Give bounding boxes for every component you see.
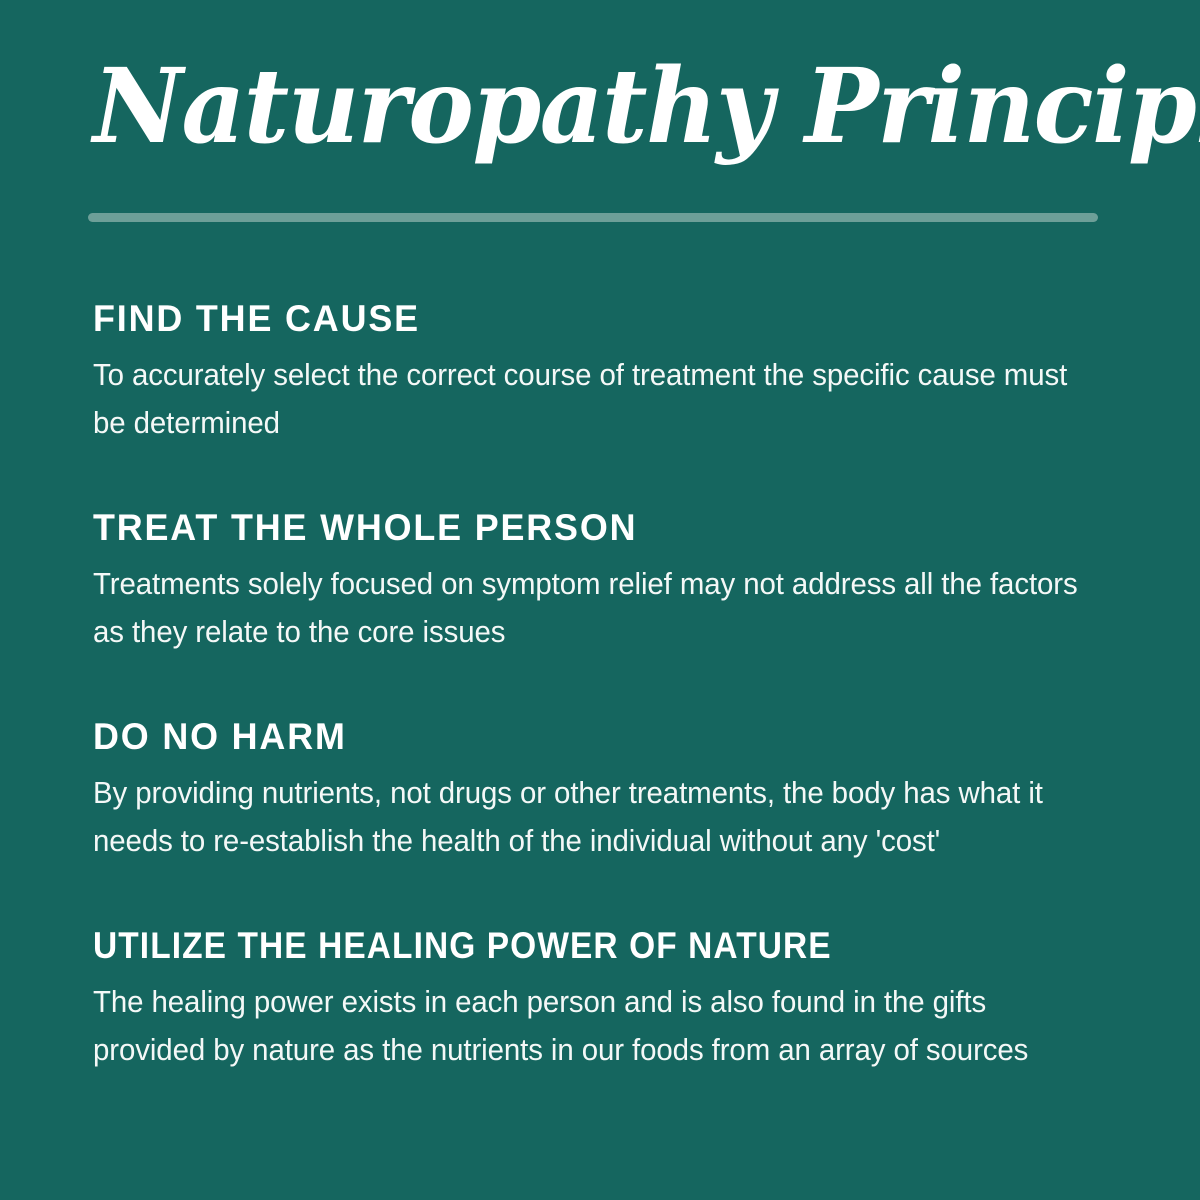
header-divider — [88, 213, 1098, 222]
principle-heading: UTILIZE THE HEALING POWER OF NATURE — [93, 927, 1007, 964]
principle-heading: FIND THE CAUSE — [93, 300, 1073, 337]
principles-list: FIND THE CAUSE To accurately select the … — [93, 300, 1103, 1074]
poster-canvas: Naturopathy Principles FIND THE CAUSE To… — [0, 0, 1200, 1200]
principle-item-treat-the-whole-person: TREAT THE WHOLE PERSON Treatments solely… — [93, 509, 1103, 656]
principle-heading: DO NO HARM — [93, 718, 1073, 755]
divider-bar — [88, 213, 1098, 222]
principle-item-utilize-the-healing-power-of-nature: UTILIZE THE HEALING POWER OF NATURE The … — [93, 927, 1103, 1074]
principle-body: To accurately select the correct course … — [93, 351, 1101, 447]
principle-heading: TREAT THE WHOLE PERSON — [93, 509, 1073, 546]
page-title: Naturopathy Principles — [93, 52, 1061, 161]
principle-body: The healing power exists in each person … — [93, 978, 1101, 1074]
principle-item-find-the-cause: FIND THE CAUSE To accurately select the … — [93, 300, 1103, 447]
principle-body: Treatments solely focused on symptom rel… — [93, 560, 1101, 656]
principle-body: By providing nutrients, not drugs or oth… — [93, 769, 1101, 865]
title-block: Naturopathy Principles — [93, 52, 1107, 161]
principle-item-do-no-harm: DO NO HARM By providing nutrients, not d… — [93, 718, 1103, 865]
